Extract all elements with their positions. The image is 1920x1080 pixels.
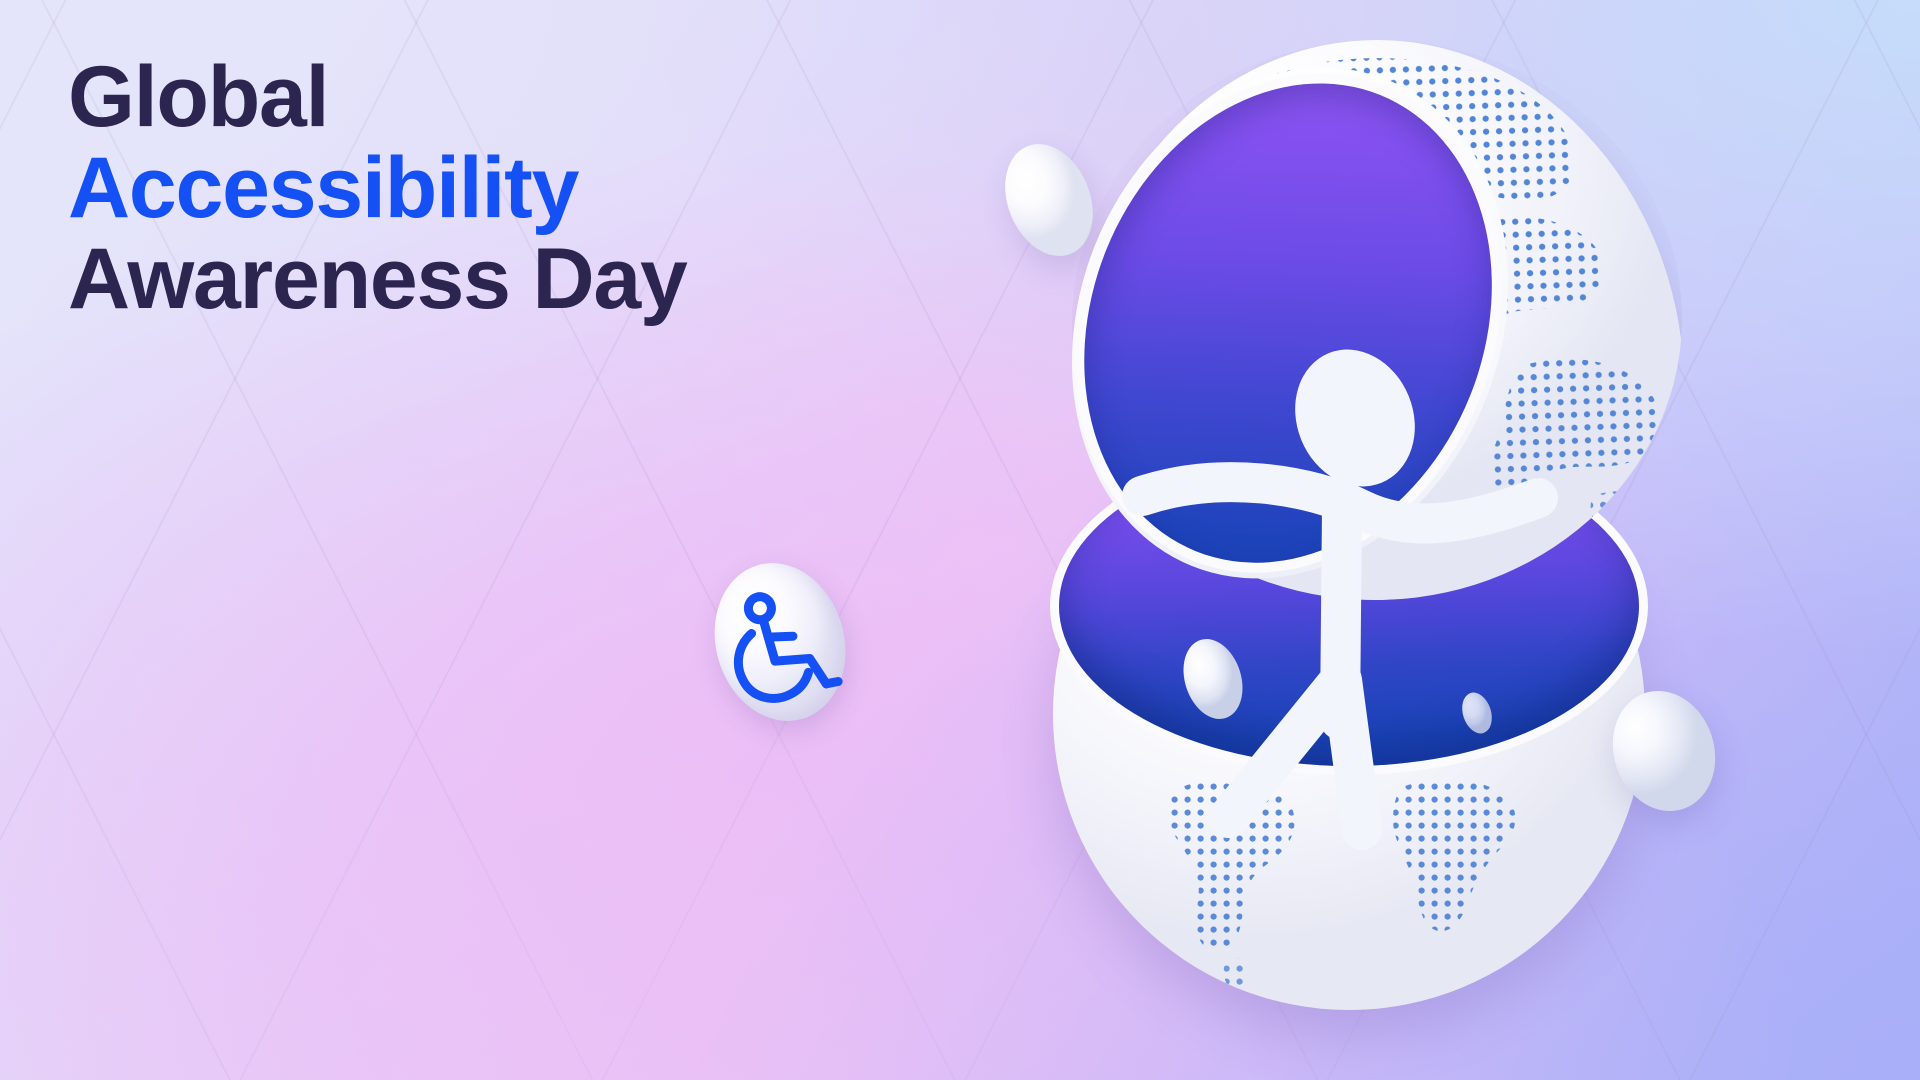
globe-illustration xyxy=(1010,40,1800,1020)
page-title: Global Accessibility Awareness Day xyxy=(68,52,888,325)
accessibility-person-icon xyxy=(1010,40,1800,1020)
headline-line-2: Accessibility xyxy=(68,143,888,234)
headline-line-3: Awareness Day xyxy=(68,234,888,325)
headline-line-1: Global xyxy=(68,52,888,143)
poster-canvas: Global Accessibility Awareness Day xyxy=(0,0,1920,1080)
